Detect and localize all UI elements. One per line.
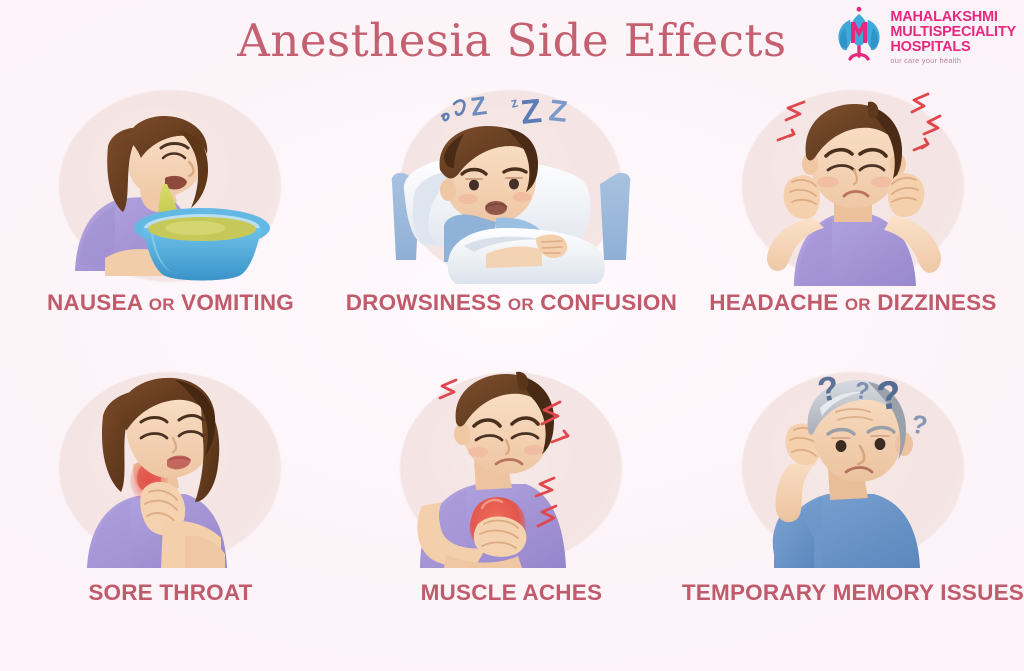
lotus-monogram-logo-icon	[834, 6, 884, 64]
illustration-sore-throat	[45, 368, 295, 568]
caption-conjunction: OR	[845, 295, 871, 314]
caption-main: HEADACHE	[709, 290, 838, 315]
side-effect-card-headache: HEADACHE OR DIZZINESS	[682, 86, 1024, 368]
svg-text:Z: Z	[519, 92, 544, 132]
side-effect-card-muscle-aches: MUSCLE ACHES	[341, 368, 682, 650]
illustration-headache	[728, 86, 978, 286]
caption-main: MUSCLE ACHES	[421, 580, 603, 605]
logo-line-1: MAHALAKSHMI	[890, 10, 1016, 25]
side-effect-card-nausea: NAUSEA OR VOMITING	[0, 86, 341, 368]
caption-conjunction: OR	[508, 295, 534, 314]
svg-text:z: z	[509, 94, 520, 111]
svg-text:?: ?	[874, 373, 903, 419]
side-effect-card-drowsiness: Z z Z Z DROWSINESS OR CONFUSION	[341, 86, 682, 368]
logo-tagline: our care your health	[890, 57, 1016, 65]
man-headache-icon	[728, 86, 978, 286]
boy-sleeping-in-bed-icon: Z z Z Z	[386, 86, 636, 286]
svg-text:Z: Z	[548, 94, 570, 129]
caption-muscle-aches: MUSCLE ACHES	[421, 580, 603, 606]
elderly-man-confused-icon: ? ? ? ?	[728, 368, 978, 568]
svg-text:?: ?	[853, 377, 870, 405]
svg-text:Z: Z	[469, 90, 489, 122]
illustration-drowsiness: Z z Z Z	[386, 86, 636, 286]
logo-wordmark: MAHALAKSHMI MULTISPECIALITY HOSPITALS ou…	[890, 6, 1016, 65]
logo-line-3: HOSPITALS	[890, 40, 1016, 55]
infographic-poster: Anesthesia Side Effects MAHALAKSHMI MULT…	[0, 0, 1024, 671]
side-effects-grid: NAUSEA OR VOMITING	[0, 86, 1024, 650]
man-muscle-ache-icon	[386, 368, 636, 568]
caption-main: TEMPORARY MEMORY ISSUES	[682, 580, 1024, 605]
caption-tail: CONFUSION	[540, 290, 677, 315]
hospital-logo: MAHALAKSHMI MULTISPECIALITY HOSPITALS ou…	[834, 6, 1016, 65]
side-effect-card-sore-throat: SORE THROAT	[0, 368, 341, 650]
caption-sore-throat: SORE THROAT	[88, 580, 252, 606]
illustration-muscle-aches	[386, 368, 636, 568]
svg-text:?: ?	[909, 408, 930, 440]
caption-memory-issues: TEMPORARY MEMORY ISSUES	[682, 580, 1024, 606]
caption-nausea: NAUSEA OR VOMITING	[47, 290, 294, 316]
caption-tail: VOMITING	[181, 290, 294, 315]
poster-header: Anesthesia Side Effects MAHALAKSHMI MULT…	[0, 0, 1024, 88]
caption-tail: DIZZINESS	[877, 290, 996, 315]
caption-drowsiness: DROWSINESS OR CONFUSION	[346, 290, 677, 316]
side-effect-card-memory-issues: ? ? ? ? TEMPORARY MEMORY ISSUES	[682, 368, 1024, 650]
illustration-memory-issues: ? ? ? ?	[728, 368, 978, 568]
logo-line-2: MULTISPECIALITY	[890, 25, 1016, 40]
woman-vomiting-icon	[45, 86, 295, 286]
woman-sore-throat-icon	[45, 368, 295, 568]
caption-main: DROWSINESS	[346, 290, 502, 315]
caption-main: SORE THROAT	[88, 580, 252, 605]
caption-conjunction: OR	[149, 295, 175, 314]
illustration-nausea	[45, 86, 295, 286]
caption-main: NAUSEA	[47, 290, 142, 315]
caption-headache: HEADACHE OR DIZZINESS	[709, 290, 996, 316]
